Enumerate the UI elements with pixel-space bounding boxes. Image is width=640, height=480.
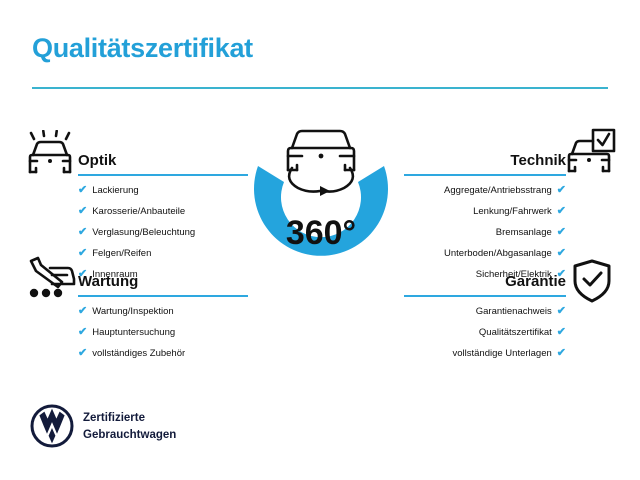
list-item-label: Verglasung/Beleuchtung [92, 228, 195, 238]
section-underline [404, 295, 566, 297]
check-icon: ✔ [78, 306, 87, 317]
check-icon: ✔ [78, 227, 87, 238]
section-underline [404, 174, 566, 176]
list-item: Aggregate/Antriebsstrang✔ [404, 185, 566, 196]
section-title: Wartung [78, 273, 138, 290]
list-item-label: Qualitätszertifikat [479, 328, 552, 338]
rotation-arrow-icon [320, 186, 330, 196]
footer-line-1: Zertifizierte [83, 410, 176, 427]
section-garantie: Garantie Garantienachweis✔ Qualitätszert… [404, 267, 566, 369]
list-item-label: vollständiges Zubehör [92, 349, 185, 359]
check-icon: ✔ [78, 206, 87, 217]
list-item-label: Lenkung/Fahrwerk [473, 207, 552, 217]
footer-brand-text: Zertifizierte Gebrauchtwagen [83, 410, 176, 443]
section-header: Wartung [78, 267, 248, 297]
check-icon: ✔ [78, 348, 87, 359]
section-title: Garantie [505, 273, 566, 290]
list-item-label: vollständige Unterlagen [452, 349, 551, 359]
volkswagen-logo [30, 404, 74, 453]
title-divider [32, 87, 608, 89]
check-icon: ✔ [78, 185, 87, 196]
section-title: Technik [510, 152, 566, 169]
list-item: ✔Hauptuntersuchung [78, 327, 248, 338]
shield-check-icon [570, 258, 614, 309]
list-item: ✔Wartung/Inspektion [78, 306, 248, 317]
list-item: Lenkung/Fahrwerk✔ [404, 206, 566, 217]
list-item-label: Garantienachweis [476, 307, 552, 317]
section-header: Garantie [404, 267, 566, 297]
check-icon: ✔ [78, 327, 87, 338]
list-item-label: Felgen/Reifen [92, 249, 151, 259]
list-item-label: Unterboden/Abgasanlage [444, 249, 552, 259]
badge-center-label: 360° [286, 214, 356, 252]
section-header: Optik [78, 146, 248, 176]
section-wartung: Wartung ✔Wartung/Inspektion ✔Hauptunters… [78, 267, 248, 369]
list-item: Garantienachweis✔ [404, 306, 566, 317]
checklist-garantie: Garantienachweis✔ Qualitätszertifikat✔ v… [404, 306, 566, 359]
checklist-technik: Aggregate/Antriebsstrang✔ Lenkung/Fahrwe… [404, 185, 566, 280]
check-icon: ✔ [557, 348, 566, 359]
checklist-optik: ✔Lackierung ✔Karosserie/Anbauteile ✔Verg… [78, 185, 248, 280]
quality-certificate-page: Qualitätszertifikat [0, 0, 640, 480]
car-front-shine-icon [25, 130, 75, 181]
checklist-wartung: ✔Wartung/Inspektion ✔Hauptuntersuchung ✔… [78, 306, 248, 359]
section-title: Optik [78, 152, 116, 169]
list-item: ✔vollständiges Zubehör [78, 348, 248, 359]
gebrauchtwagen-check-badge: Gebrauchtwagen-Check 360° [232, 118, 410, 314]
list-item: ✔Karosserie/Anbauteile [78, 206, 248, 217]
list-item-label: Bremsanlage [496, 228, 552, 238]
check-icon: ✔ [78, 248, 87, 259]
page-title: Qualitätszertifikat [32, 33, 253, 64]
check-icon: ✔ [557, 306, 566, 317]
list-item-label: Aggregate/Antriebsstrang [444, 186, 552, 196]
section-header: Technik [404, 146, 566, 176]
check-icon: ✔ [557, 248, 566, 259]
car-rotation-360-icon [288, 131, 354, 196]
list-item: ✔Lackierung [78, 185, 248, 196]
list-item: Bremsanlage✔ [404, 227, 566, 238]
section-underline [78, 174, 248, 176]
list-item: Unterboden/Abgasanlage✔ [404, 248, 566, 259]
list-item-label: Lackierung [92, 186, 138, 196]
list-item: ✔Verglasung/Beleuchtung [78, 227, 248, 238]
list-item: vollständige Unterlagen✔ [404, 348, 566, 359]
wrench-car-service-icon [22, 255, 78, 308]
footer-line-2: Gebrauchtwagen [83, 427, 176, 444]
check-icon: ✔ [557, 227, 566, 238]
list-item-label: Karosserie/Anbauteile [92, 207, 185, 217]
list-item-label: Wartung/Inspektion [92, 307, 174, 317]
list-item: ✔Felgen/Reifen [78, 248, 248, 259]
section-underline [78, 295, 248, 297]
list-item-label: Hauptuntersuchung [92, 328, 175, 338]
car-front-checkbox-icon [566, 128, 616, 181]
check-icon: ✔ [557, 206, 566, 217]
list-item: Qualitätszertifikat✔ [404, 327, 566, 338]
check-icon: ✔ [557, 327, 566, 338]
check-icon: ✔ [557, 185, 566, 196]
